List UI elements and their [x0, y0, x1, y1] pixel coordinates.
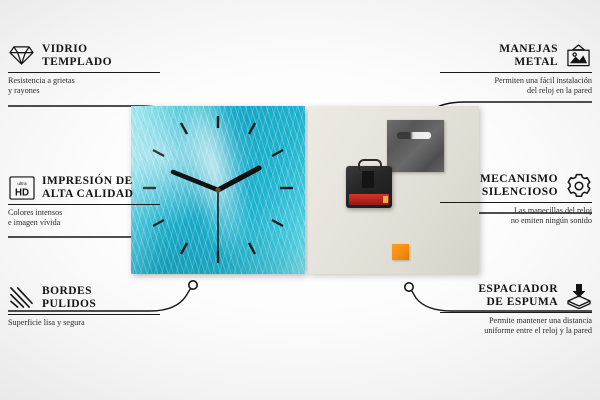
feature-divider [8, 204, 160, 205]
foam-spacer-pad [392, 244, 409, 260]
feature-divider [440, 312, 592, 313]
feature-title: MECANISMO SILENCIOSO [440, 173, 558, 198]
feature-divider [440, 72, 592, 73]
mechanism-shaft [362, 171, 374, 188]
ultra-hd-icon: ultra HD [8, 174, 35, 201]
metal-hanger-plate [387, 120, 444, 172]
product-feature-infographic: VIDRIO TEMPLADO Resistencia a grietas y … [0, 0, 600, 400]
diamond-icon [8, 42, 35, 69]
foam-spacer-icon [565, 282, 592, 309]
feature-divider [8, 72, 160, 73]
marker-bordes [189, 281, 197, 289]
feature-mecanismo-silencioso: MECANISMO SILENCIOSO Las manecillas del … [440, 172, 592, 226]
feature-divider [440, 202, 592, 203]
svg-text:ultra: ultra [17, 181, 27, 187]
feature-subtitle: Permiten una fácil instalación del reloj… [440, 76, 592, 96]
feature-espaciador-espuma: ESPACIADOR DE ESPUMA Permite mantener un… [440, 282, 592, 336]
feature-subtitle: Las manecillas del reloj no emiten ningú… [440, 206, 592, 226]
diagonal-lines-icon [8, 284, 35, 311]
mechanism-hook [358, 159, 382, 171]
picture-frame-icon [565, 42, 592, 69]
quartz-mechanism [346, 166, 392, 208]
svg-text:HD: HD [15, 187, 29, 198]
feature-subtitle: Colores intensos e imagen vívida [8, 208, 160, 228]
battery-terminal [383, 196, 388, 203]
feature-subtitle: Superficie lisa y segura [8, 318, 160, 328]
feature-impresion-alta-calidad: ultra HD IMPRESIÓN DE ALTA CALIDAD Color… [8, 174, 160, 228]
feature-title: ESPACIADOR DE ESPUMA [440, 283, 558, 308]
battery [349, 194, 389, 205]
feature-title: IMPRESIÓN DE ALTA CALIDAD [42, 175, 160, 200]
marker-espaciador [405, 283, 413, 291]
feature-bordes-pulidos: BORDES PULIDOS Superficie lisa y segura [8, 284, 160, 328]
feature-title: MANEJAS METAL [440, 43, 558, 68]
feature-subtitle: Permite mantener una distancia uniforme … [440, 316, 592, 336]
feature-manejas-metal: MANEJAS METAL Permiten una fácil instala… [440, 42, 592, 96]
gear-icon [565, 172, 592, 199]
feature-title: BORDES PULIDOS [42, 285, 160, 310]
hanger-keyhole-slot [397, 132, 431, 139]
product-stage [131, 106, 479, 274]
feature-title: VIDRIO TEMPLADO [42, 43, 160, 68]
feature-divider [8, 314, 160, 315]
feature-vidrio-templado: VIDRIO TEMPLADO Resistencia a grietas y … [8, 42, 160, 96]
feature-subtitle: Resistencia a grietas y rayones [8, 76, 160, 96]
